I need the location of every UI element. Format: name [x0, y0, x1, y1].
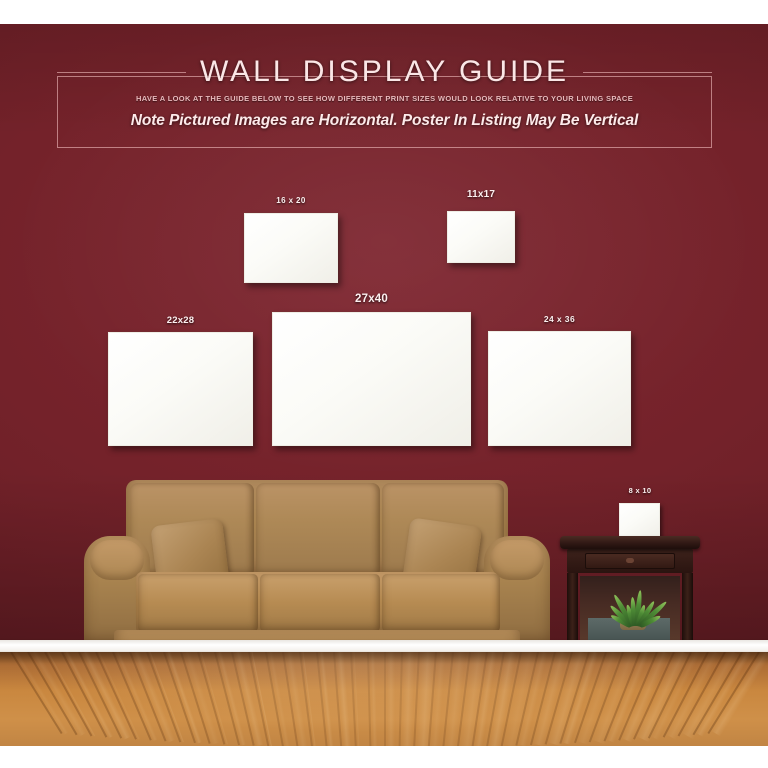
wood-floor — [0, 652, 768, 748]
subtitle-text: HAVE A LOOK AT THE GUIDE BELOW TO SEE HO… — [57, 94, 712, 103]
frame-label-11x17: 11x17 — [447, 189, 515, 200]
nightstand-tabletop — [560, 536, 700, 549]
sofa-arm-roll — [490, 540, 544, 580]
frame-8x10[interactable] — [619, 503, 660, 539]
frame-24x36[interactable] — [488, 331, 631, 446]
floor-grain — [370, 652, 377, 748]
nightstand — [560, 536, 700, 654]
nightstand-drawer[interactable] — [567, 549, 693, 573]
floor-plank — [384, 652, 386, 748]
bottom-white-band — [0, 746, 768, 768]
sofa-seat-cushion — [260, 574, 380, 632]
sofa-seat-cushion — [138, 574, 258, 632]
frame-label-27x40: 27x40 — [272, 293, 471, 305]
title-rule-left — [57, 72, 186, 73]
floor-grain — [387, 652, 395, 748]
frame-27x40[interactable] — [272, 312, 471, 446]
frame-label-24x36: 24 x 36 — [488, 314, 631, 324]
page-title: WALL DISPLAY GUIDE — [200, 55, 569, 89]
top-white-band — [0, 0, 768, 24]
nightstand-drawer-knob[interactable] — [626, 558, 634, 563]
frame-label-22x28: 22x28 — [108, 315, 253, 326]
potted-plant — [612, 592, 654, 626]
sofa-back-cushion — [256, 483, 380, 575]
frame-11x17[interactable] — [447, 211, 515, 263]
note-text: Note Pictured Images are Horizontal. Pos… — [57, 112, 712, 130]
sofa-seat-cushion — [382, 574, 500, 632]
frame-16x20[interactable] — [244, 213, 338, 283]
frame-label-8x10: 8 x 10 — [614, 486, 666, 495]
frame-22x28[interactable] — [108, 332, 253, 446]
wall-display-guide-image: WALL DISPLAY GUIDE HAVE A LOOK AT THE GU… — [0, 0, 768, 768]
frame-label-16x20: 16 x 20 — [244, 196, 338, 205]
title-row: WALL DISPLAY GUIDE — [57, 52, 712, 92]
title-rule-right — [583, 72, 712, 73]
